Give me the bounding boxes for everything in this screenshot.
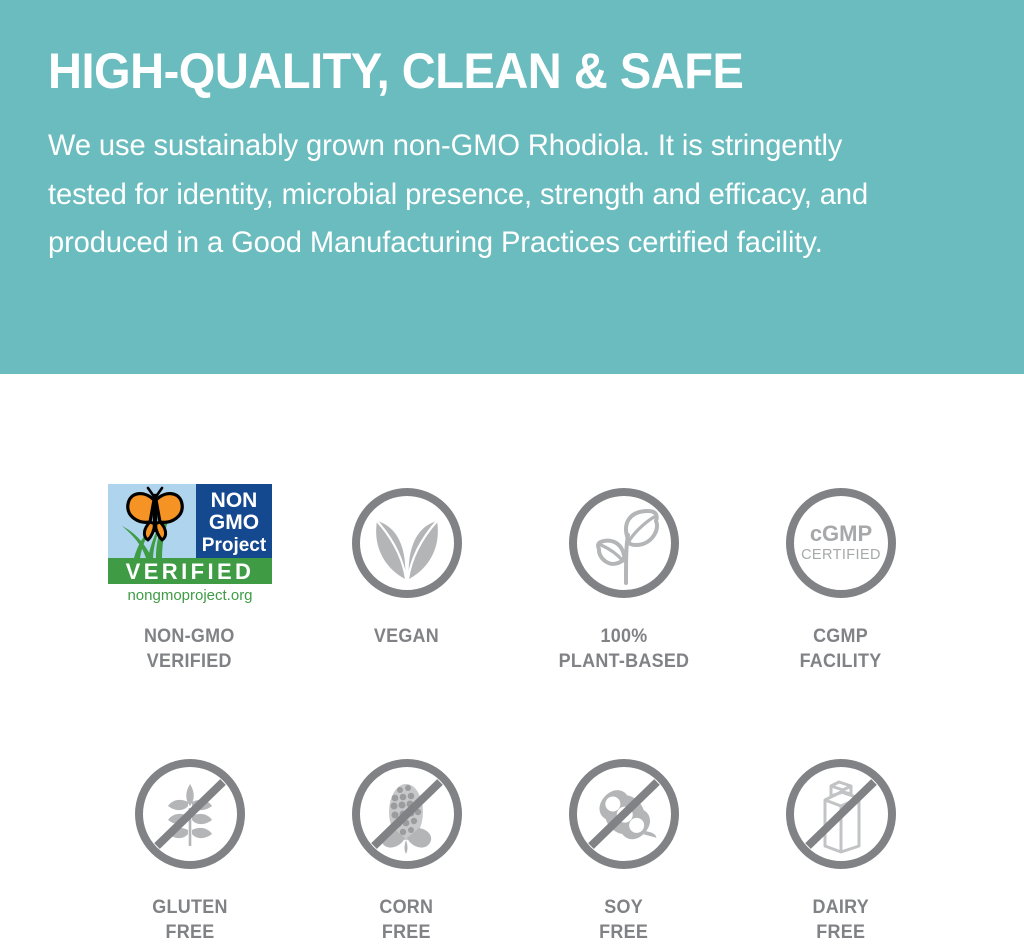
cgmp-certified-icon: cGMP CERTIFIED — [781, 478, 901, 608]
badge-dairy-free: DAIRY FREE — [732, 749, 949, 945]
two-leaves-icon — [347, 478, 467, 608]
dairy-free-icon-svg — [781, 754, 901, 874]
svg-text:VERIFIED: VERIFIED — [125, 559, 254, 584]
badge-label: VEGAN — [374, 624, 439, 649]
badge-row-1: NON GMO Project VERIFIED nongmoproject.o… — [0, 478, 1024, 674]
vegan-icon-svg — [347, 483, 467, 603]
soy-free-icon-svg — [564, 754, 684, 874]
no-dairy-carton-icon — [781, 749, 901, 879]
svg-text:Project: Project — [201, 535, 266, 556]
badge-label-line2: FREE — [382, 921, 431, 943]
badge-label-line2: VERIFIED — [147, 650, 232, 672]
badge-label: DAIRY FREE — [812, 895, 869, 945]
svg-text:GMO: GMO — [208, 511, 258, 534]
no-soy-icon — [564, 749, 684, 879]
gluten-free-icon-svg — [130, 754, 250, 874]
page-title: HIGH-QUALITY, CLEAN & SAFE — [48, 46, 920, 96]
hero-description: We use sustainably grown non-GMO Rhodiol… — [48, 122, 921, 268]
badge-label: SOY FREE — [599, 895, 648, 945]
svg-text:nongmoproject.org: nongmoproject.org — [127, 587, 252, 604]
badge-label: NON-GMO VERIFIED — [144, 624, 235, 674]
badge-label-line1: 100% — [600, 625, 647, 647]
hero-banner: HIGH-QUALITY, CLEAN & SAFE We use sustai… — [0, 0, 1024, 374]
badge-label-line2: PLANT-BASED — [558, 650, 689, 672]
svg-text:NON: NON — [210, 489, 257, 512]
no-wheat-icon — [130, 749, 250, 879]
badge-label: CORN FREE — [380, 895, 434, 945]
no-corn-icon — [347, 749, 467, 879]
cgmp-icon-text-bottom: CERTIFIED — [801, 547, 881, 563]
badge-label: GLUTEN FREE — [152, 895, 227, 945]
badge-label-line2: FREE — [816, 921, 865, 943]
badge-label-line2: FREE — [165, 921, 214, 943]
badge-label-line1: GLUTEN — [152, 896, 227, 918]
badge-label: CGMP FACILITY — [800, 624, 882, 674]
cgmp-icon-svg: cGMP CERTIFIED — [781, 483, 901, 603]
certifications-page: HIGH-QUALITY, CLEAN & SAFE We use sustai… — [0, 0, 1024, 952]
certification-badges: NON GMO Project VERIFIED nongmoproject.o… — [0, 374, 1024, 952]
badge-non-gmo-verified: NON GMO Project VERIFIED nongmoproject.o… — [81, 478, 298, 674]
badge-label-line1: CORN — [380, 896, 434, 918]
badge-plant-based: 100% PLANT-BASED — [515, 478, 732, 674]
badge-label-line1: NON-GMO — [144, 625, 235, 647]
badge-gluten-free: GLUTEN FREE — [81, 749, 298, 945]
sprout-icon — [564, 478, 684, 608]
badge-vegan: VEGAN — [298, 478, 515, 674]
corn-free-icon-svg — [347, 754, 467, 874]
badge-label-line1: SOY — [604, 896, 643, 918]
badge-soy-free: SOY FREE — [515, 749, 732, 945]
badge-cgmp-facility: cGMP CERTIFIED CGMP FACILITY — [732, 478, 949, 674]
badge-label-line1: VEGAN — [374, 625, 439, 647]
non-gmo-logo-svg: NON GMO Project VERIFIED nongmoproject.o… — [104, 480, 276, 606]
badge-label: 100% PLANT-BASED — [558, 624, 689, 674]
badge-label-line2: FACILITY — [800, 650, 882, 672]
non-gmo-project-verified-logo: NON GMO Project VERIFIED nongmoproject.o… — [104, 478, 276, 608]
badge-label-line1: CGMP — [813, 625, 868, 647]
badge-row-2: GLUTEN FREE — [0, 749, 1024, 945]
cgmp-icon-text-top: cGMP — [809, 521, 871, 546]
badge-label-line1: DAIRY — [812, 896, 869, 918]
badge-corn-free: CORN FREE — [298, 749, 515, 945]
plant-based-icon-svg — [564, 483, 684, 603]
badge-label-line2: FREE — [599, 921, 648, 943]
